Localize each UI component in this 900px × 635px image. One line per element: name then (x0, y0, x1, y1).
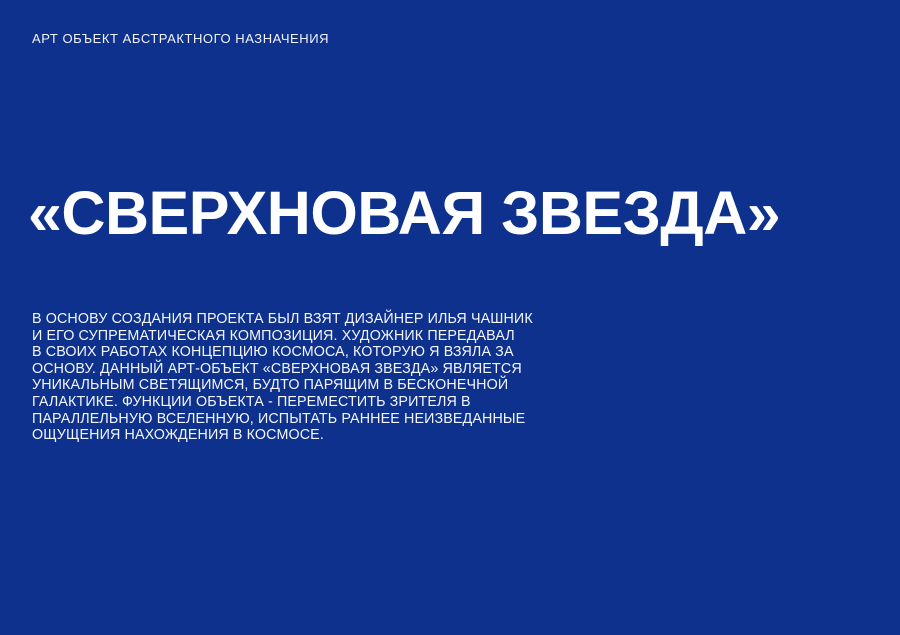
slide-eyebrow-label: АРТ ОБЪЕКТ АБСТРАКТНОГО НАЗНАЧЕНИЯ (32, 30, 329, 48)
body-line: ПАРАЛЛЕЛЬНУЮ ВСЕЛЕННУЮ, ИСПЫТАТЬ РАННЕЕ … (32, 411, 562, 428)
body-line: ОЩУЩЕНИЯ НАХОЖДЕНИЯ В КОСМОСЕ. (32, 427, 562, 444)
body-line: В ОСНОВУ СОЗДАНИЯ ПРОЕКТА БЫЛ ВЗЯТ ДИЗАЙ… (32, 311, 562, 328)
page-title: «СВЕРХНОВАЯ ЗВЕЗДА» (28, 177, 780, 249)
body-line: ОСНОВУ. ДАННЫЙ АРТ-ОБЪЕКТ «СВЕРХНОВАЯ ЗВ… (32, 361, 562, 378)
slide-body-text: В ОСНОВУ СОЗДАНИЯ ПРОЕКТА БЫЛ ВЗЯТ ДИЗАЙ… (32, 311, 562, 444)
body-line: ГАЛАКТИКЕ. ФУНКЦИИ ОБЪЕКТА - ПЕРЕМЕСТИТЬ… (32, 394, 562, 411)
presentation-slide: АРТ ОБЪЕКТ АБСТРАКТНОГО НАЗНАЧЕНИЯ «СВЕР… (0, 0, 900, 635)
body-line: УНИКАЛЬНЫМ СВЕТЯЩИМСЯ, БУДТО ПАРЯЩИМ В Б… (32, 377, 562, 394)
body-line: В СВОИХ РАБОТАХ КОНЦЕПЦИЮ КОСМОСА, КОТОР… (32, 344, 562, 361)
body-line: И ЕГО СУПРЕМАТИЧЕСКАЯ КОМПОЗИЦИЯ. ХУДОЖН… (32, 328, 562, 345)
